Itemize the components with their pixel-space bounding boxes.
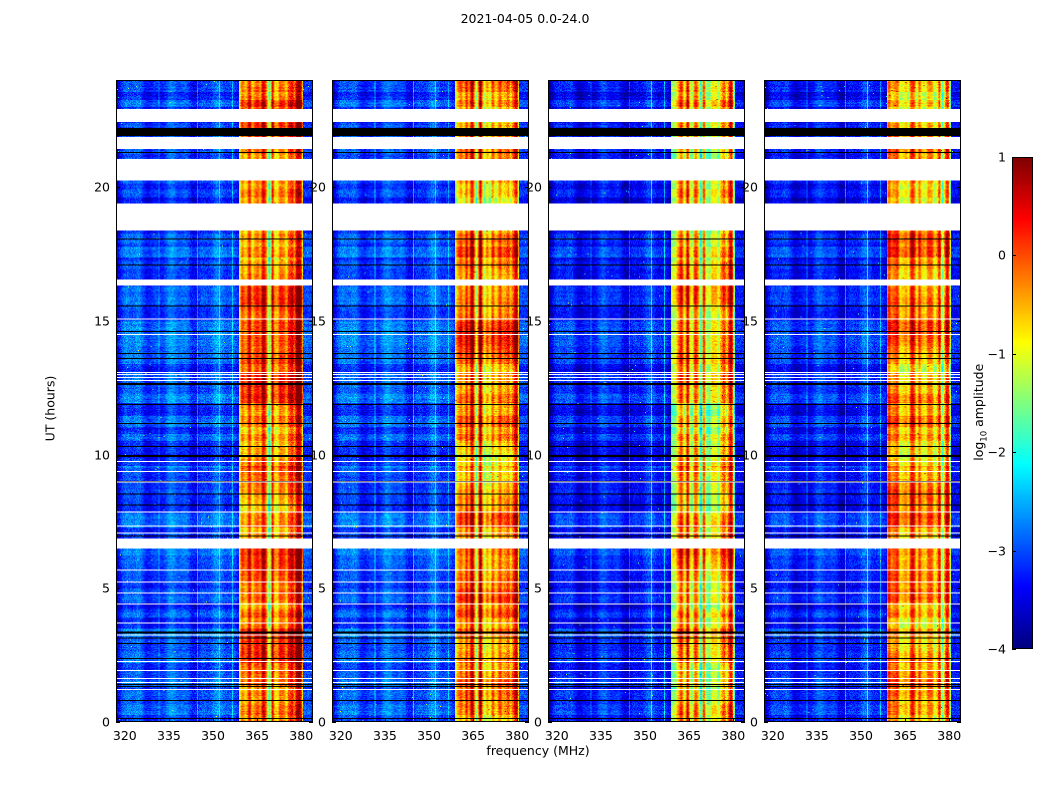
y-tick-label: 20 [724,180,758,195]
colorbar-tick-label: −4 [968,642,1006,657]
y-tick-label: 5 [76,581,110,596]
x-tickmark [169,718,170,722]
y-tickmark [332,722,336,723]
y-tick-label: 20 [292,180,326,195]
x-tickmark [773,718,774,722]
y-tickmark [332,321,336,322]
x-axis-label: frequency (MHz) [486,743,589,758]
colorbar-label-suffix: amplitude [971,364,986,431]
x-tickmark [341,718,342,722]
y-tick-label: 0 [76,715,110,730]
y-tick-label: 10 [724,447,758,462]
x-tickmark [385,718,386,722]
x-tick-label: 350 [849,728,873,743]
x-tickmark [689,718,690,722]
y-tickmark [548,187,552,188]
y-tick-label: 5 [292,581,326,596]
spectrogram-yx [765,81,960,721]
x-tick-label: 380 [289,728,313,743]
x-tickmark [125,718,126,722]
y-tick-label: 15 [508,313,542,328]
y-tick-label: 20 [76,180,110,195]
y-tick-label: 5 [508,581,542,596]
x-tick-label: 335 [157,728,181,743]
x-tick-label: 320 [329,728,353,743]
y-tickmark [957,187,961,188]
panel-xx: XX, V13*V17=EA15*EA21 [116,80,313,722]
x-tick-label: 320 [545,728,569,743]
y-tickmark [116,187,120,188]
y-tick-label: 5 [724,581,758,596]
y-tickmark [116,321,120,322]
y-tickmark [764,722,768,723]
colorbar-tick-label: 0 [968,248,1006,263]
x-tick-label: 365 [677,728,701,743]
x-tickmark [645,718,646,722]
panel-xy: XY, V13*V17=EA15*EA21 [548,80,745,722]
y-tick-label: 0 [292,715,326,730]
x-tickmark [429,718,430,722]
spectrogram-yy [333,81,528,721]
y-tickmark [332,455,336,456]
colorbar-tick-label: −3 [968,543,1006,558]
y-tick-label: 20 [508,180,542,195]
y-tickmark [548,588,552,589]
figure-canvas: 2021-04-05 0.0-24.0 XX, V13*V17=EA15*EA2… [0,0,1050,800]
colorbar [1012,157,1033,649]
y-tickmark [764,187,768,188]
colorbar-label-prefix: log [971,442,986,461]
y-tickmark [548,321,552,322]
x-tick-label: 365 [245,728,269,743]
x-tickmark [557,718,558,722]
panel-yy: YY, V13*V17=EA15*EA21 [332,80,529,722]
colorbar-tickmark [1012,649,1016,650]
x-tick-label: 320 [761,728,785,743]
y-tickmark [116,455,120,456]
y-tickmark [332,588,336,589]
x-tick-label: 320 [113,728,137,743]
y-tickmark [332,187,336,188]
x-tickmark [257,718,258,722]
x-tickmark [213,718,214,722]
y-tickmark [764,321,768,322]
x-tickmark [949,718,950,722]
figure-suptitle: 2021-04-05 0.0-24.0 [0,11,1050,26]
x-tickmark [905,718,906,722]
x-tick-label: 335 [373,728,397,743]
colorbar-tickmark [1012,354,1016,355]
y-tickmark [957,588,961,589]
y-tick-label: 0 [724,715,758,730]
colorbar-tick-label: 1 [968,150,1006,165]
colorbar-tickmark [1012,255,1016,256]
colorbar-tickmark [1012,551,1016,552]
y-tickmark [116,722,120,723]
panel-yx: YX, V13*V17=EA15*EA21 [764,80,961,722]
x-tick-label: 365 [893,728,917,743]
x-tick-label: 350 [201,728,225,743]
y-tickmark [548,455,552,456]
spectrogram-xy [549,81,744,721]
y-tickmark [116,588,120,589]
colorbar-tickmark [1012,452,1016,453]
y-tick-label: 15 [724,313,758,328]
colorbar-label: log10 amplitude [971,312,990,512]
x-tickmark [473,718,474,722]
x-tick-label: 350 [417,728,441,743]
y-tick-label: 15 [292,313,326,328]
y-tick-label: 15 [76,313,110,328]
x-tickmark [817,718,818,722]
y-tickmark [957,455,961,456]
y-tick-label: 10 [508,447,542,462]
y-tickmark [957,722,961,723]
x-tick-label: 365 [461,728,485,743]
spectrogram-xx [117,81,312,721]
y-axis-label: UT (hours) [43,349,58,469]
x-tick-label: 350 [633,728,657,743]
y-tick-label: 10 [292,447,326,462]
x-tickmark [861,718,862,722]
x-tick-label: 335 [805,728,829,743]
colorbar-label-sub: 10 [979,431,989,442]
x-tick-label: 380 [505,728,529,743]
y-tickmark [764,455,768,456]
y-tick-label: 0 [508,715,542,730]
x-tick-label: 380 [721,728,745,743]
y-tickmark [957,321,961,322]
x-tick-label: 380 [937,728,961,743]
x-tick-label: 335 [589,728,613,743]
x-tickmark [601,718,602,722]
colorbar-tickmark [1012,157,1016,158]
y-tick-label: 10 [76,447,110,462]
y-tickmark [548,722,552,723]
y-tickmark [764,588,768,589]
